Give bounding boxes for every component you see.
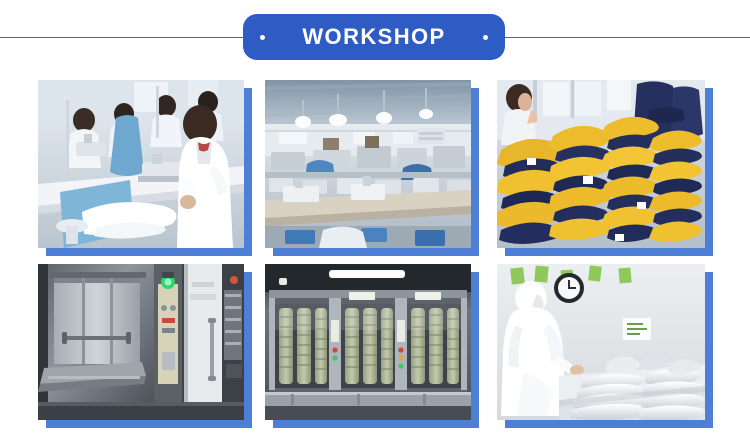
- photo-frame-2: [265, 80, 471, 248]
- photo-frame-1: [38, 80, 244, 248]
- gallery-cell-3[interactable]: [497, 80, 705, 248]
- photo-3-garment-stacks[interactable]: [497, 80, 705, 248]
- page-title: WORKSHOP: [243, 14, 505, 60]
- photo-4-artwork: [38, 264, 244, 420]
- photo-3-artwork: [497, 80, 705, 248]
- photo-6-cleanroom-packing[interactable]: [497, 264, 705, 420]
- photo-5-artwork: [265, 264, 471, 420]
- photo-1-artwork: [38, 80, 244, 248]
- page-header: WORKSHOP: [0, 0, 750, 68]
- photo-6-artwork: [497, 264, 705, 420]
- photo-frame-6: [497, 264, 705, 420]
- photo-4-autoclave[interactable]: [38, 264, 244, 420]
- photo-2-factory-floor[interactable]: [265, 80, 471, 248]
- workshop-photo-gallery: [0, 68, 750, 447]
- photo-frame-3: [497, 80, 705, 248]
- photo-5-sterilizer-racks[interactable]: [265, 264, 471, 420]
- workshop-title-banner: WORKSHOP: [243, 14, 505, 60]
- photo-frame-4: [38, 264, 244, 420]
- photo-2-artwork: [265, 80, 471, 248]
- gallery-cell-1[interactable]: [38, 80, 244, 248]
- gallery-cell-5[interactable]: [265, 264, 471, 420]
- photo-frame-5: [265, 264, 471, 420]
- gallery-cell-2[interactable]: [265, 80, 471, 248]
- gallery-cell-6[interactable]: [497, 264, 705, 420]
- gallery-cell-4[interactable]: [38, 264, 244, 420]
- photo-1-sewing-line[interactable]: [38, 80, 244, 248]
